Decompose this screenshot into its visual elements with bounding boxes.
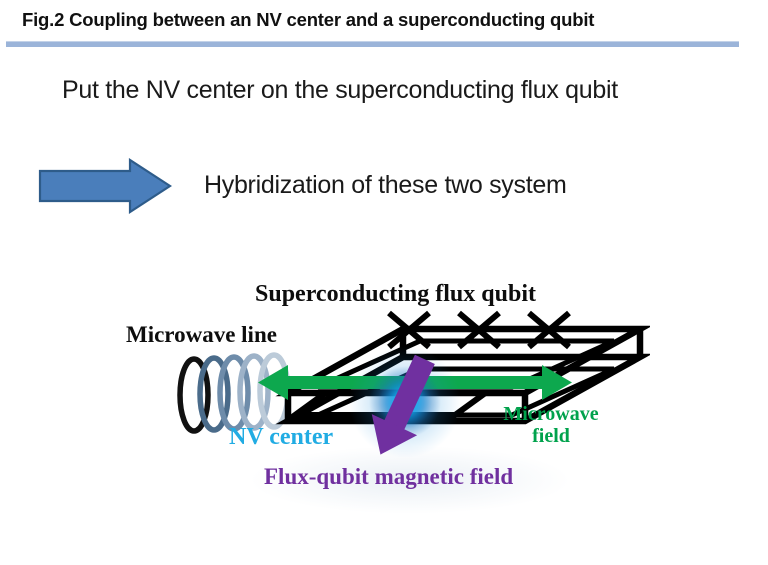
statement-hybridization: Hybridization of these two system	[204, 171, 566, 200]
label-microwave-field-line1: Microwave	[503, 403, 598, 425]
label-superconducting-flux-qubit: Superconducting flux qubit	[255, 281, 536, 308]
label-microwave-line: Microwave line	[126, 322, 277, 348]
right-block-arrow-shape	[38, 158, 172, 214]
arrow-polygon	[40, 160, 170, 212]
label-flux-qubit-magnetic-field: Flux-qubit magnetic field	[264, 464, 513, 490]
label-nv-center: NV center	[229, 424, 333, 451]
page-title: Fig.2 Coupling between an NV center and …	[22, 9, 742, 31]
statement-put-nv-center: Put the NV center on the superconducting…	[62, 76, 618, 105]
label-microwave-field: Microwave field	[492, 404, 610, 447]
microwave-line-coil	[180, 355, 288, 431]
label-microwave-field-line2: field	[532, 425, 570, 447]
title-underline-rule	[6, 41, 739, 47]
right-block-arrow	[38, 158, 172, 214]
slide-canvas: Fig.2 Coupling between an NV center and …	[0, 0, 768, 565]
